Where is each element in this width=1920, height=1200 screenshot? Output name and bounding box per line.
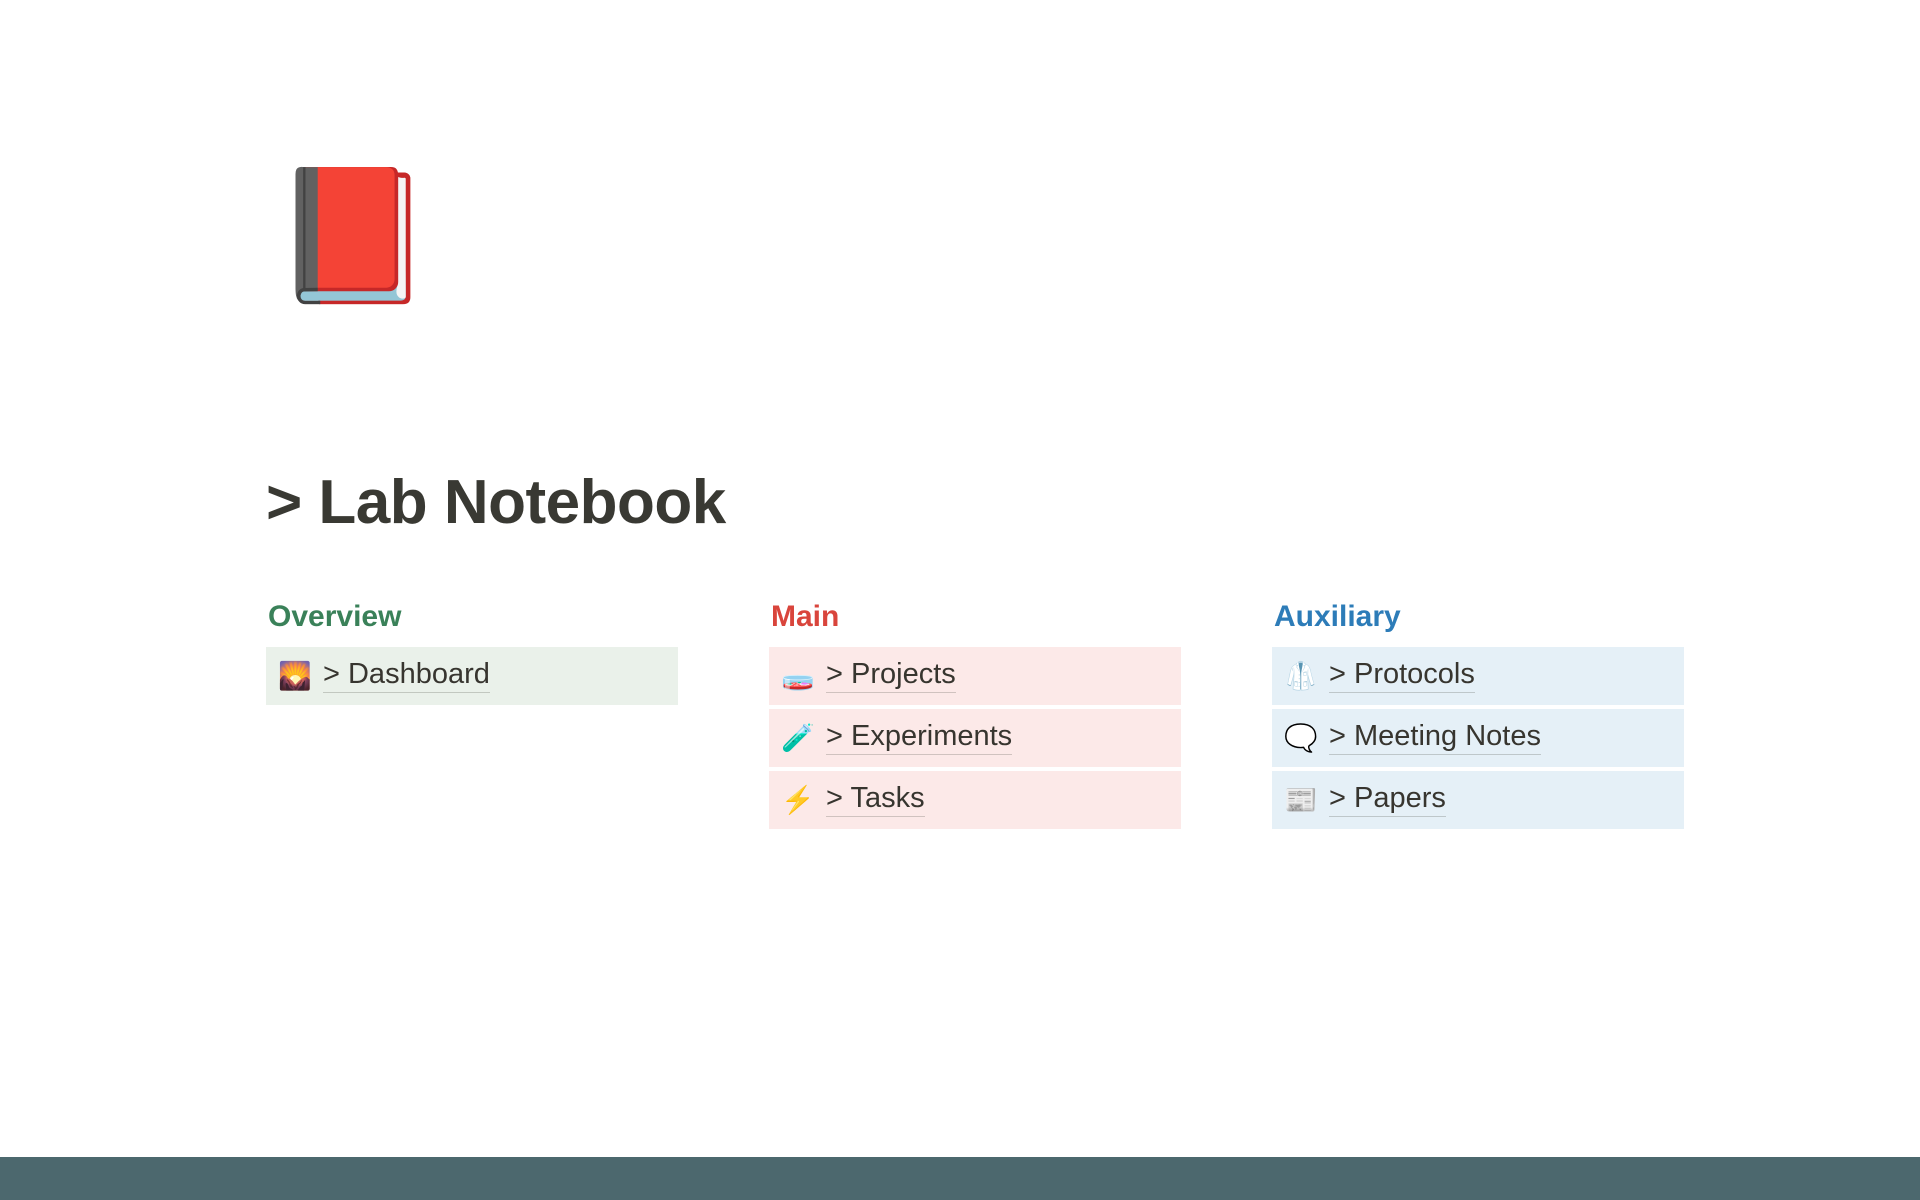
sunrise-over-mountains-icon: 🌄 <box>277 663 313 690</box>
left-speech-bubble-icon: 🗨️ <box>1283 725 1319 752</box>
column-header-overview: Overview <box>268 600 678 633</box>
link-list-auxiliary: 🥼 > Protocols 🗨️ > Meeting Notes 📰 > Pap… <box>1272 647 1684 829</box>
link-list-main: 🧫 > Projects 🧪 > Experiments ⚡ > Tasks <box>769 647 1181 829</box>
column-overview: Overview 🌄 > Dashboard <box>266 600 678 829</box>
list-item[interactable]: 🌄 > Dashboard <box>266 647 678 705</box>
column-header-main: Main <box>771 600 1181 633</box>
column-header-auxiliary: Auxiliary <box>1274 600 1684 633</box>
list-item[interactable]: 🧪 > Experiments <box>769 709 1181 767</box>
link-label-dashboard[interactable]: > Dashboard <box>323 659 490 694</box>
link-label-experiments[interactable]: > Experiments <box>826 721 1012 756</box>
link-label-projects[interactable]: > Projects <box>826 659 956 694</box>
newspaper-icon: 📰 <box>1283 787 1319 814</box>
list-item[interactable]: 🧫 > Projects <box>769 647 1181 705</box>
list-item[interactable]: ⚡ > Tasks <box>769 771 1181 829</box>
link-label-meeting-notes[interactable]: > Meeting Notes <box>1329 721 1541 756</box>
list-item[interactable]: 🥼 > Protocols <box>1272 647 1684 705</box>
link-label-tasks[interactable]: > Tasks <box>826 783 925 818</box>
closed-book-icon: 📕 <box>272 170 434 300</box>
page-title: > Lab Notebook <box>266 467 726 538</box>
link-columns: Overview 🌄 > Dashboard Main 🧫 > Projects… <box>266 600 1686 829</box>
high-voltage-icon: ⚡ <box>780 787 816 814</box>
petri-dish-icon: 🧫 <box>780 663 816 690</box>
link-label-papers[interactable]: > Papers <box>1329 783 1446 818</box>
column-auxiliary: Auxiliary 🥼 > Protocols 🗨️ > Meeting Not… <box>1272 600 1684 829</box>
link-list-overview: 🌄 > Dashboard <box>266 647 678 705</box>
lab-coat-icon: 🥼 <box>1283 663 1319 690</box>
test-tube-icon: 🧪 <box>780 725 816 752</box>
link-label-protocols[interactable]: > Protocols <box>1329 659 1475 694</box>
list-item[interactable]: 📰 > Papers <box>1272 771 1684 829</box>
list-item[interactable]: 🗨️ > Meeting Notes <box>1272 709 1684 767</box>
column-main: Main 🧫 > Projects 🧪 > Experiments ⚡ > Ta… <box>769 600 1181 829</box>
bottom-bar <box>0 1157 1920 1200</box>
page-root: 📕 > Lab Notebook Overview 🌄 > Dashboard … <box>0 0 1920 1200</box>
